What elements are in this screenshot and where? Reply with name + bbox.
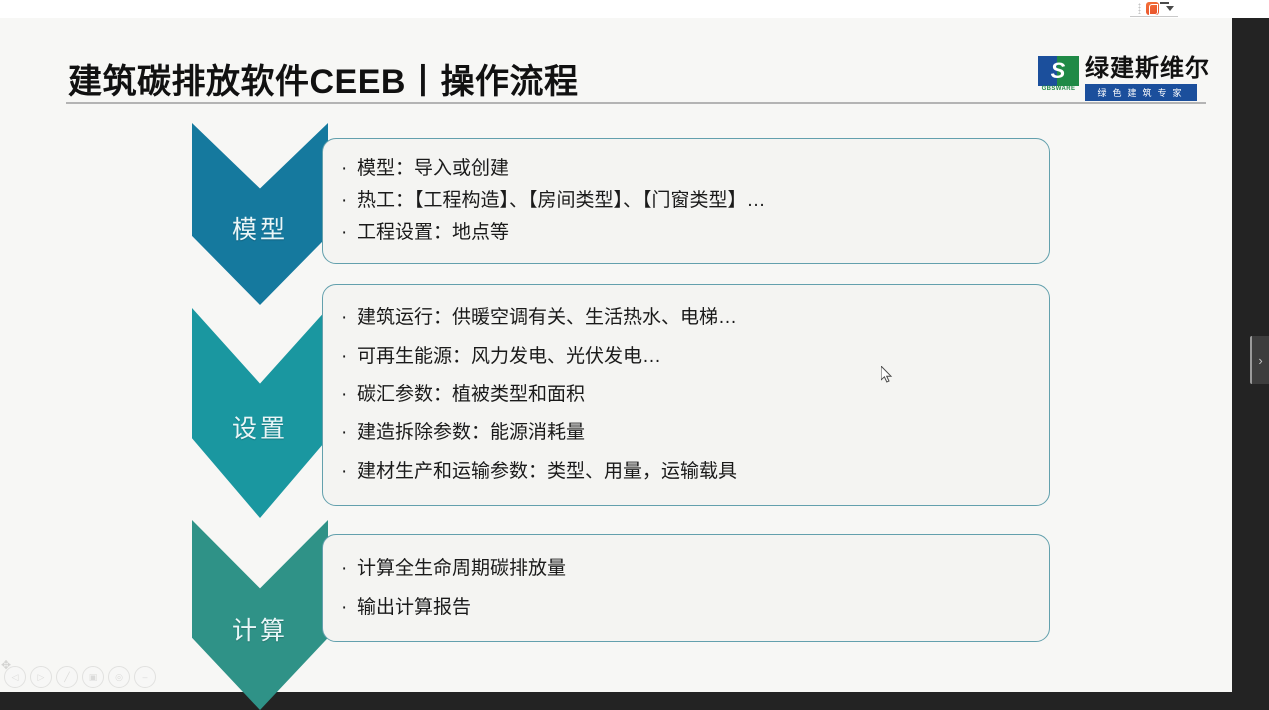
logo-s-letter: S	[1043, 59, 1073, 83]
play-button[interactable]: ▷	[30, 666, 52, 688]
bullet-dot-icon: ·	[341, 344, 357, 370]
flow-content-box-model: · 模型：导入或创建 · 热工：【工程构造】、【房间类型】、【门窗类型】… · …	[322, 138, 1050, 264]
list-item-text: 输出计算报告	[357, 595, 471, 621]
list-item-text: 建筑运行：供暖空调有关、生活热水、电梯…	[357, 305, 737, 331]
list-item-text: 计算全生命周期碳排放量	[357, 556, 566, 582]
extension-icon[interactable]	[1146, 2, 1159, 15]
flow-content-box-settings: · 建筑运行：供暖空调有关、生活热水、电梯… · 可再生能源：风力发电、光伏发电…	[322, 284, 1050, 506]
flow-step-label: 计算	[232, 611, 288, 647]
list-item-text: 模型：导入或创建	[357, 156, 509, 182]
camera-button[interactable]: ▣	[82, 666, 104, 688]
browser-top-strip	[0, 0, 1269, 18]
list-item: · 热工：【工程构造】、【房间类型】、【门窗类型】…	[341, 188, 1031, 214]
bullet-dot-icon: ·	[341, 459, 357, 485]
bullet-dot-icon: ·	[341, 156, 357, 182]
brand-logo: S GBSWARE 绿建斯维尔 绿色建筑专家	[1038, 56, 1208, 100]
bullet-dot-icon: ·	[341, 382, 357, 408]
list-item: · 输出计算报告	[341, 595, 1031, 621]
logo-company-name: 绿建斯维尔	[1085, 56, 1210, 82]
list-item: · 建造拆除参数：能源消耗量	[341, 420, 1031, 446]
list-item-text: 建造拆除参数：能源消耗量	[357, 420, 585, 446]
list-item-text: 碳汇参数：植被类型和面积	[357, 382, 585, 408]
list-item: · 建材生产和运输参数：类型、用量，运输载具	[341, 459, 1031, 485]
drag-dots-icon	[1138, 3, 1141, 14]
list-item-text: 建材生产和运输参数：类型、用量，运输载具	[357, 459, 737, 485]
list-item-text: 热工：【工程构造】、【房间类型】、【门窗类型】…	[357, 188, 766, 214]
list-item: · 建筑运行：供暖空调有关、生活热水、电梯…	[341, 305, 1031, 331]
zoom-button[interactable]: ◎	[108, 666, 130, 688]
bullet-dot-icon: ·	[341, 220, 357, 246]
logo-tagline: 绿色建筑专家	[1085, 84, 1197, 101]
bullet-dot-icon: ·	[341, 556, 357, 582]
flow-step-chevron-calculate: 计算	[192, 520, 328, 710]
panel-toggle-button[interactable]: ›	[1250, 336, 1269, 384]
flow-step-label: 模型	[232, 210, 288, 246]
logo-wordmark: GBSWARE	[1038, 86, 1079, 92]
logo-mark-icon: S GBSWARE	[1038, 56, 1079, 92]
flow-content-box-calculate: · 计算全生命周期碳排放量 · 输出计算报告	[322, 534, 1050, 642]
list-item-text: 工程设置：地点等	[357, 220, 509, 246]
slide-canvas: 建筑碳排放软件CEEB丨操作流程 S GBSWARE 绿建斯维尔 绿色建筑专家 …	[0, 18, 1232, 692]
flow-step-label: 设置	[232, 409, 288, 445]
presentation-viewer: 建筑碳排放软件CEEB丨操作流程 S GBSWARE 绿建斯维尔 绿色建筑专家 …	[0, 0, 1269, 710]
flow-step-chevron-settings: 设置	[192, 308, 328, 518]
bullet-dot-icon: ·	[341, 595, 357, 621]
bullet-dot-icon: ·	[341, 188, 357, 214]
list-item: · 模型：导入或创建	[341, 156, 1031, 182]
list-item-text: 可再生能源：风力发电、光伏发电…	[357, 344, 661, 370]
list-item: · 工程设置：地点等	[341, 220, 1031, 246]
viewer-toolbar[interactable]: ◁ ▷ ╱ ▣ ◎ –	[4, 666, 156, 688]
chevron-down-icon[interactable]	[1166, 6, 1174, 11]
list-item: · 计算全生命周期碳排放量	[341, 556, 1031, 582]
pen-button[interactable]: ╱	[56, 666, 78, 688]
minus-button[interactable]: –	[134, 666, 156, 688]
previous-button[interactable]: ◁	[4, 666, 26, 688]
caret-underline	[1160, 2, 1169, 4]
page-title: 建筑碳排放软件CEEB丨操作流程	[68, 54, 578, 103]
strip-underline	[1130, 16, 1178, 17]
title-divider	[66, 102, 1206, 104]
list-item: · 可再生能源：风力发电、光伏发电…	[341, 344, 1031, 370]
extension-toolbar[interactable]	[1138, 0, 1180, 16]
bullet-dot-icon: ·	[341, 420, 357, 446]
flow-step-chevron-model: 模型	[192, 123, 328, 305]
logo-text-block: 绿建斯维尔 绿色建筑专家	[1085, 56, 1210, 101]
bullet-dot-icon: ·	[341, 305, 357, 331]
list-item: · 碳汇参数：植被类型和面积	[341, 382, 1031, 408]
